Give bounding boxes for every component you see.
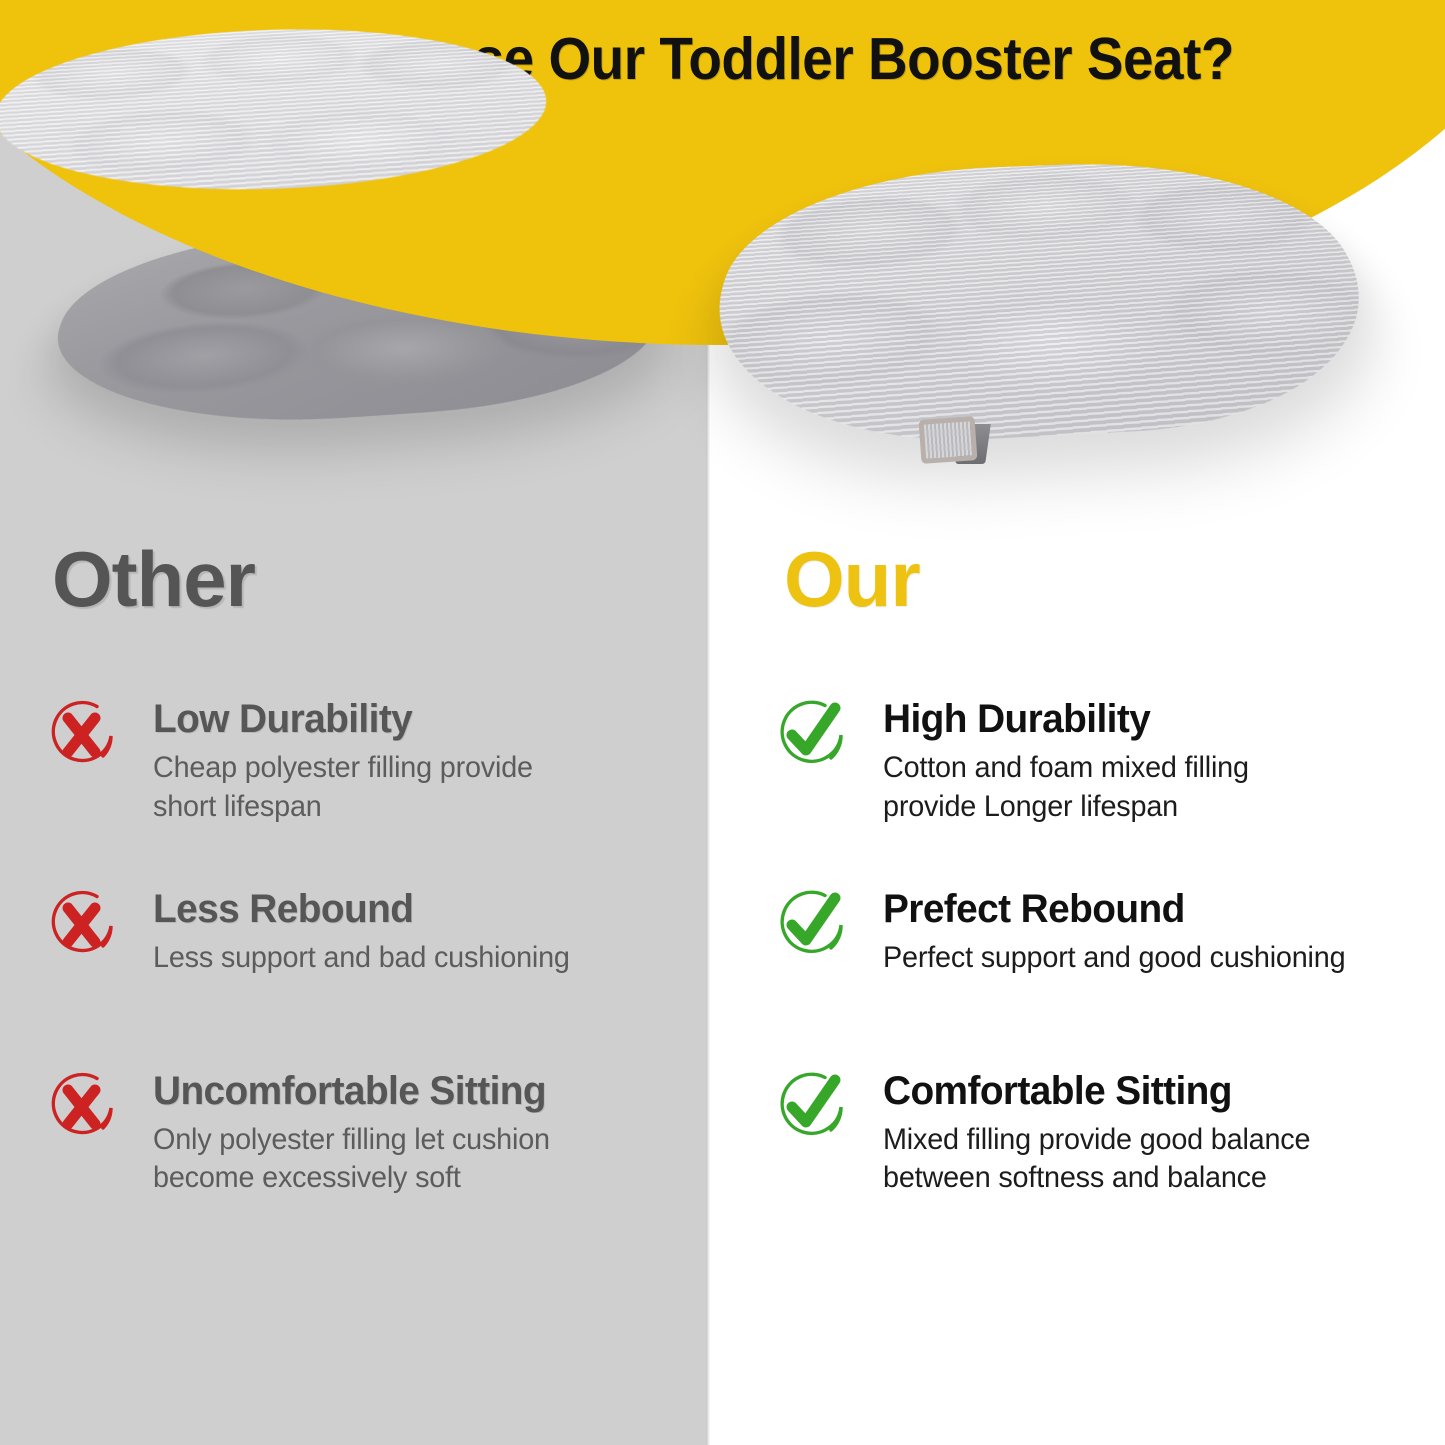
our-product-photo <box>0 0 548 200</box>
check-icon <box>775 1070 849 1144</box>
cross-icon <box>45 1070 119 1144</box>
feature-row: Comfortable Sitting Mixed filling provid… <box>775 1070 1435 1198</box>
feature-description: Less support and bad cushioning <box>153 939 669 977</box>
feature-title: Less Rebound <box>153 888 674 931</box>
cross-icon <box>45 698 119 772</box>
feature-title: Uncomfortable Sitting <box>153 1070 674 1113</box>
feature-row: Prefect Rebound Perfect support and good… <box>775 888 1435 978</box>
our-feature-list: High Durability Cotton and foam mixed fi… <box>775 690 1435 1236</box>
comparison-infographic: Why Choose Our Toddler Booster Seat? Oth… <box>0 0 1445 1445</box>
check-icon <box>775 698 849 772</box>
other-feature-list: Low Durability Cheap polyester filling p… <box>45 690 690 1236</box>
feature-body: High Durability Cotton and foam mixed fi… <box>775 698 1435 826</box>
feature-body: Low Durability Cheap polyester filling p… <box>45 698 690 826</box>
cross-icon <box>45 888 119 962</box>
feature-title: High Durability <box>883 698 1418 741</box>
feature-body: Less Rebound Less support and bad cushio… <box>45 888 690 978</box>
feature-row: Uncomfortable Sitting Only polyester fil… <box>45 1070 690 1198</box>
column-heading-our: Our <box>784 540 920 618</box>
cushion-buckle-icon <box>919 416 978 464</box>
check-icon <box>775 888 849 962</box>
feature-body: Uncomfortable Sitting Only polyester fil… <box>45 1070 690 1198</box>
feature-description: Perfect support and good cushioning <box>883 939 1413 977</box>
feature-description: Cheap polyester filling provide short li… <box>153 749 669 826</box>
feature-description: Mixed filling provide good balance betwe… <box>883 1121 1413 1198</box>
our-cushion-top <box>0 22 589 203</box>
feature-description: Cotton and foam mixed filling provide Lo… <box>883 749 1413 826</box>
feature-row: Low Durability Cheap polyester filling p… <box>45 698 690 826</box>
feature-title: Comfortable Sitting <box>883 1070 1418 1113</box>
feature-title: Prefect Rebound <box>883 888 1418 931</box>
feature-body: Prefect Rebound Perfect support and good… <box>775 888 1435 978</box>
feature-row: High Durability Cotton and foam mixed fi… <box>775 698 1435 826</box>
feature-body: Comfortable Sitting Mixed filling provid… <box>775 1070 1435 1198</box>
feature-row: Less Rebound Less support and bad cushio… <box>45 888 690 978</box>
feature-description: Only polyester filling let cushion becom… <box>153 1121 669 1198</box>
column-heading-other: Other <box>52 540 255 618</box>
feature-title: Low Durability <box>153 698 674 741</box>
